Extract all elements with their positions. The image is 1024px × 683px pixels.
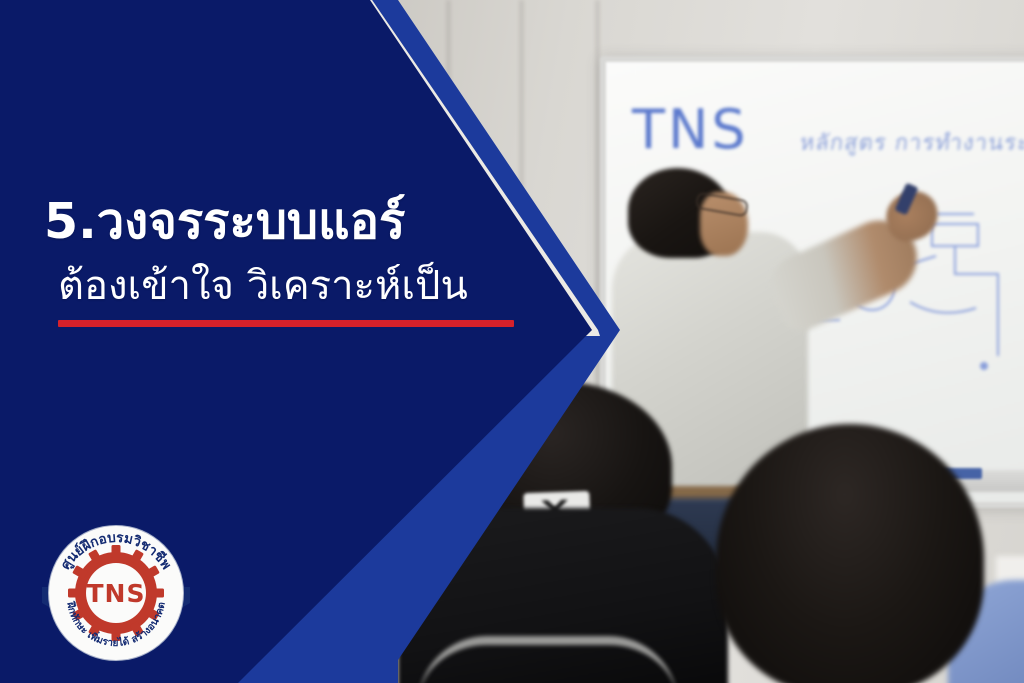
logo-monogram: TNS <box>87 579 146 608</box>
headline-block: 5.วงจรระบบแอร์ ต้องเข้าใจ วิเคราะห์เป็น <box>44 196 544 327</box>
poster-canvas: TNS หลักสูตร การทำงานระบบแอร์ <box>0 0 1024 683</box>
student-head-right <box>716 424 984 683</box>
whiteboard-handwriting-text: หลักสูตร การทำงานระบบแอร์ <box>798 125 1024 160</box>
headline-underline <box>58 320 514 327</box>
tns-logo: TNS ศูนย์ฝึกอบรมวิชาชีพ ฝึกทักษะ เพิ่มรา… <box>40 517 192 669</box>
whiteboard-heading-text: TNS <box>632 98 749 161</box>
headline-subtitle: ต้องเข้าใจ วิเคราะห์เป็น <box>58 263 544 310</box>
headline-title: 5.วงจรระบบแอร์ <box>44 196 544 249</box>
chair-backrest <box>418 636 678 683</box>
